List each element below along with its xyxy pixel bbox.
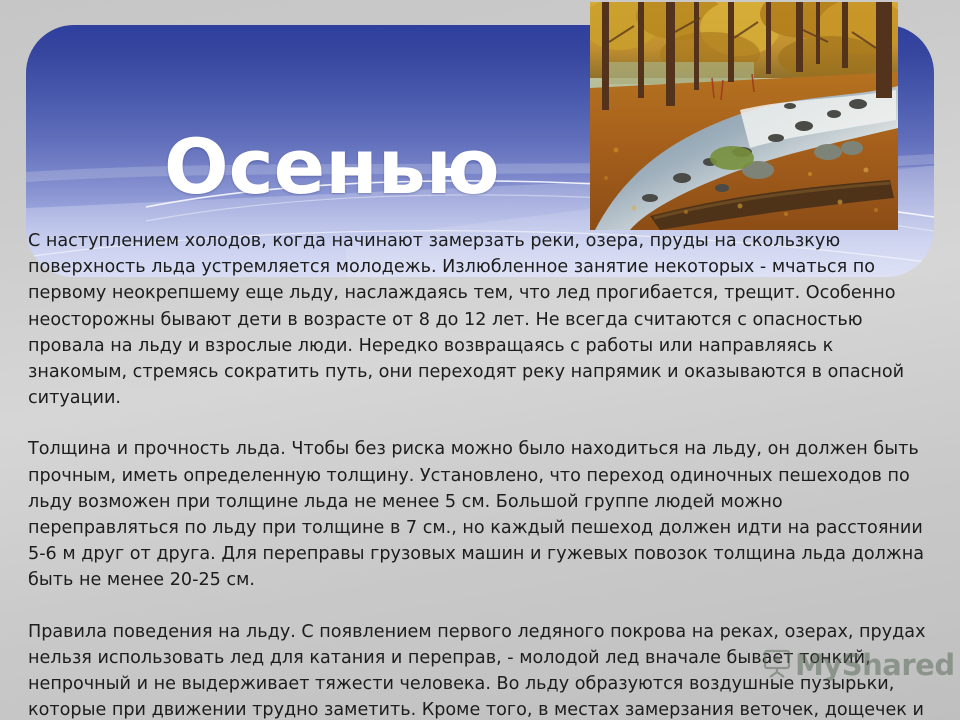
paragraph-1: С наступлением холодов, когда начинают з… — [28, 228, 934, 411]
paragraph-3: Правила поведения на льду. С появлением … — [28, 619, 934, 720]
page-title: Осенью — [164, 129, 500, 205]
paragraph-2: Толщина и прочность льда. Чтобы без риск… — [28, 436, 934, 593]
autumn-forest-photo — [590, 2, 898, 230]
body-text-block: С наступлением холодов, когда начинают з… — [28, 228, 934, 720]
presentation-slide: Осенью — [0, 0, 960, 720]
